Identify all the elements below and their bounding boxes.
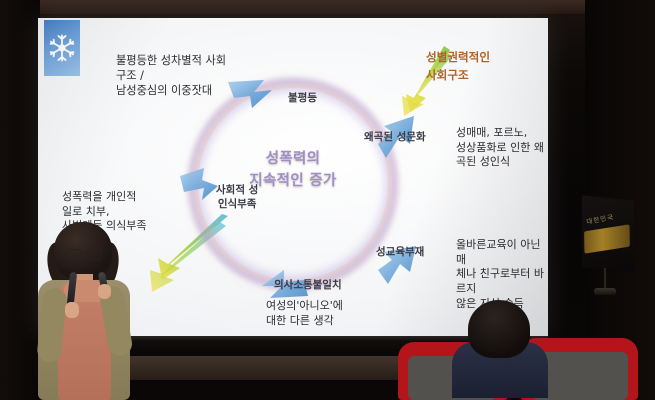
ring-label-bottom: 의사소통불일치 — [274, 279, 342, 293]
flag-banner: 대한민국 — [582, 198, 638, 294]
audience-attendee — [446, 300, 556, 400]
callout-right-upper: 성매매, 포르노, 성상품화로 인한 왜 곡된 성인식 — [456, 126, 544, 170]
ceiling-band — [0, 0, 655, 14]
speaker-right-hand — [98, 284, 111, 299]
ring-label-bottom-right: 성교육부재 — [376, 246, 424, 260]
circle-center-line1: 성폭력의 — [198, 148, 388, 170]
callout-top-left: 불평등한 성차별적 사회 구조 / 남성중심의 이중잣대 — [116, 53, 226, 98]
speaker-left-hand — [65, 302, 79, 318]
ring-label-left: 사회적 성 인식부족 — [216, 184, 258, 211]
ring-label-top-right: 왜곡된 성문화 — [364, 131, 426, 145]
lecture-hall-photo: 성폭력의 지속적인 증가 불평등 왜곡된 성문화 사회적 성 인식부족 성교육부… — [0, 0, 655, 400]
snowflake-logo-icon — [44, 20, 80, 76]
callout-top-right: 성별권력적인 사회구조 — [426, 49, 490, 85]
flag-pole — [604, 268, 606, 290]
snowflake-icon — [47, 33, 77, 63]
speaker-glasses — [66, 249, 102, 258]
callout-bottom-center: 여성의'아니오'에 대한 다른 생각 — [266, 299, 343, 328]
flag-base — [594, 288, 616, 295]
attendee-head — [468, 300, 530, 358]
stage-floor — [100, 356, 430, 380]
ring-label-top: 불평등 — [288, 92, 317, 106]
speaker-person — [24, 222, 144, 400]
